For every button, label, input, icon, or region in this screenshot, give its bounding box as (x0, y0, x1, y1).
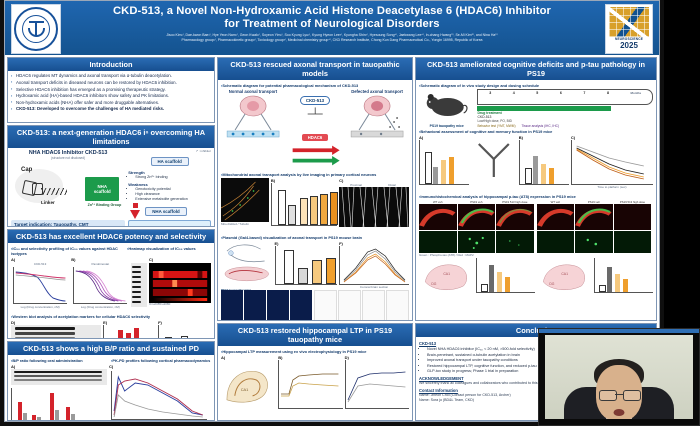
hippocampal-slice-diagram: CA1 (221, 360, 276, 410)
timeline-tick: 6 (560, 91, 562, 95)
screen-root: CKD-513, a Novel Non-Hydroxamic Acid His… (0, 0, 700, 426)
cognitive-sub-1: Schematic diagram of in vivo study desig… (419, 83, 653, 88)
ihc-zoom-image (614, 231, 652, 253)
card-bp-ratio: CKD-513 shows a high B/P ratio and susta… (7, 341, 215, 421)
y-maze-icon (471, 135, 517, 181)
molecule-note: (structure not disclosed) (11, 156, 125, 160)
ihc-zoom-image (496, 231, 534, 253)
neuroscience-logo: NEUROSCIENCE 2025 (605, 4, 653, 54)
panel-label-bp-c: C) (109, 364, 209, 369)
axonal-sub-1: Schematic diagram for potential pharmaco… (221, 83, 409, 88)
ihc-zoom-image (458, 231, 496, 253)
timeline-unit: Months (630, 91, 641, 95)
mechanism-arrows (287, 144, 343, 166)
list-item: HDAC6 regulates MT dynamics and axonal t… (11, 73, 211, 80)
image-caption: Mito-DsRed / Tubulin (221, 222, 269, 226)
dose-response-curve-a (14, 267, 67, 303)
zn-binding-label: Zn²⁺ Binding Group (88, 203, 122, 207)
ihc-note: Green : Phospho-tau (AT8) / Red : MAP2 (419, 253, 653, 257)
inhibitor-footnote: iⁿ : inhibitor (196, 149, 211, 153)
timeline-tick: 7 (583, 91, 585, 95)
axis-x-label-b: Log (Drug concentration, nM) (71, 305, 129, 309)
introduction-title: Introduction (8, 58, 214, 71)
neuroscience-year: 2025 (606, 41, 652, 50)
ihc-image (537, 204, 575, 230)
list-item: CKD-513: Developed to overcome the chall… (11, 106, 211, 113)
potency-sub-3: Western blot analysis of acetylation mar… (11, 314, 211, 319)
card-potency: CKD-513 has excellent HDAC6 potency and … (7, 229, 215, 339)
card-ltp: CKD-513 restored hippocampal LTP in PS19… (217, 323, 413, 421)
timeline-tick: 4 (513, 91, 515, 95)
panel-label-c: C) (149, 257, 211, 262)
card-introduction: Introduction HDAC6 regulates MT dynamics… (7, 57, 215, 123)
presenter-video-tile[interactable] (538, 328, 700, 426)
normal-neuron-diagram (223, 94, 283, 140)
fig-label-pano: Panobinostat (71, 262, 129, 266)
legend-behavior: Behavior test (YMT, MWM) (477, 124, 515, 128)
defective-neuron-diagram (347, 94, 407, 140)
western-blot-image (11, 325, 101, 338)
ihc-zoom-image (419, 231, 457, 253)
brain-region-diagram: CA1 DG (537, 258, 592, 294)
column-left: Introduction HDAC6 regulates MT dynamics… (7, 57, 215, 421)
title-line-2: for Treatment of Neurological Disorders (63, 18, 601, 31)
svg-text:CA1: CA1 (561, 272, 568, 276)
affiliations: Pharmacology group¹⁾, Pharmacokinetic gr… (63, 38, 601, 43)
ltp-summary-chart (345, 360, 409, 409)
axonal-sub-3: Plasmid (Gal4-based) visualization of ax… (221, 235, 409, 240)
legend-strip (131, 263, 147, 307)
ha-weakness-list: Genotoxicity potential High clearance Ex… (128, 187, 211, 203)
list-item: Strong Zn²⁺ binding (135, 175, 211, 180)
ltp-trace-chart (278, 360, 342, 409)
ps19-model-label: PS19 tauopathy mice (419, 124, 474, 128)
title-line-1: CKD-513, a Novel Non-Hydroxamic Acid His… (63, 5, 601, 18)
gfp-intensity-bar-chart (275, 246, 338, 285)
ckd-emblem-icon (14, 7, 58, 51)
next-generation-title: CKD-513: a next-generation HDAC6 iⁿ over… (8, 126, 214, 148)
dose-response-curve-b (74, 267, 127, 303)
heatmap-note: IC\u2085\u2080 (149, 303, 211, 306)
gfp-distribution-line-chart (339, 246, 409, 285)
axis-x-label-a: Log (Drug concentration, nM) (11, 305, 69, 309)
axonal-title: CKD-513 rescued axonal transport in tauo… (218, 58, 412, 80)
glasses-left-icon (599, 390, 617, 401)
linker-label: Linker (41, 200, 55, 205)
ihc-image (458, 204, 496, 230)
list-item: Extensive metabolite generation (135, 197, 211, 202)
kymograph-image (339, 187, 409, 227)
escape-latency-chart (571, 140, 653, 185)
list-item: Selective HDAC6 inhibition has emerged a… (11, 87, 211, 94)
brain-injection-diagram (221, 241, 273, 283)
list-item: Non-hydroxamic acids (NHA) offer safer a… (11, 100, 211, 107)
cognitive-sub-3: Immunohistochemical analysis of hippocam… (419, 194, 653, 199)
mouse-icon (419, 89, 474, 119)
list-item: Axonal transport deficits in diseased ne… (11, 80, 211, 87)
nha-scaffold-block: NHAscaffold (85, 177, 119, 201)
target-indication: Target indication: Tauopathy, CMT (11, 220, 125, 226)
bp-sub-2: PK-PD profiles following cortical pharma… (111, 358, 211, 363)
introduction-bullets: HDAC6 regulates MT dynamics and axonal t… (11, 73, 211, 113)
svg-text:CA1: CA1 (241, 387, 249, 392)
svg-text:CA1: CA1 (443, 272, 450, 276)
ymaze-bar-chart (419, 140, 469, 185)
ihc-image (575, 204, 613, 230)
ha-strength-list: Strong Zn²⁺ binding (128, 175, 211, 180)
ihc-zoom-image (575, 231, 613, 253)
latency-y-label: Time to platform (sec) (571, 185, 653, 189)
card-axonal-transport: CKD-513 rescued axonal transport in tauo… (217, 57, 413, 321)
list-item: Hydroxamic acid (HA)-based HDAC6 inhibit… (11, 93, 211, 100)
hdac6-node: HDAC6 (302, 134, 328, 141)
axonal-sub-2: Mitochondrial axonal transport analysis … (221, 172, 409, 177)
molecule-panel: NHA HDAC6 Inhibitor CKD-513 (structure n… (11, 150, 125, 224)
fig-label-ckd513: CKD-513 (11, 262, 69, 266)
chart-x-label: Coronal brain section (339, 285, 409, 289)
ihc-image (496, 204, 534, 230)
ic50-heatmap (149, 263, 211, 303)
potency-sub-2: Heatmap visualization of IC₅₀ values (127, 246, 211, 256)
scaffold-comparison: HA scaffold Strength Strong Zn²⁺ binding… (128, 150, 211, 224)
bar-chart-achistone (158, 325, 211, 338)
legend-tissue: Tissue analysis (IHC, IHC) (522, 124, 559, 128)
structure-diagram: Cap NHAscaffold Linker Zn²⁺ Binding Grou… (11, 161, 125, 217)
mwm-bar-chart (519, 140, 569, 185)
author-block: Jisoo Kim¹⁾, Dae-kwon Bae¹⁾, Hye Yeon Na… (63, 33, 601, 43)
timeline-tick: 5 (536, 91, 538, 95)
ltp-sub-1: Hippocampal LTP measurement using ex viv… (221, 349, 409, 354)
potency-sub-1: IC₅₀ and selectivity profiling of IC₅₀ v… (11, 246, 123, 256)
poster-header: CKD-513, a Novel Non-Hydroxamic Acid His… (5, 1, 659, 55)
ltp-title: CKD-513 restored hippocampal LTP in PS19… (218, 324, 412, 346)
bp-sub-1: B/P ratio following oral administration (11, 358, 107, 363)
glasses-bridge-icon (615, 394, 623, 395)
drug-node: CKD-513 (300, 96, 330, 105)
video-top-bar (539, 329, 699, 333)
neuroscience-mark-icon (609, 7, 649, 37)
svg-text:DG: DG (431, 282, 436, 286)
nha-strength-box: Strength High isoform selectivity No gen… (128, 220, 211, 226)
bp-title: CKD-513 shows a high B/P ratio and susta… (8, 342, 214, 355)
brain-region-diagram: CA1 DG (419, 258, 474, 294)
ihc-image (419, 204, 457, 230)
cognitive-title: CKD-513 ameliorated cognitive deficits a… (416, 58, 656, 80)
bp-blot-image (11, 369, 107, 385)
mito-transport-bar-chart (271, 183, 337, 226)
video-feed (545, 335, 693, 419)
at8-intensity-chart-1 (476, 258, 535, 293)
page-title: CKD-513, a Novel Non-Hydroxamic Acid His… (63, 5, 601, 31)
ihc-zoom-image (537, 231, 575, 253)
card-next-generation: CKD-513: a next-generation HDAC6 iⁿ over… (7, 125, 215, 227)
ihc-image (614, 204, 652, 230)
at8-intensity-chart-2 (594, 258, 653, 293)
nha-scaffold-pill: NHA scaffold (145, 207, 186, 216)
card-cognitive: CKD-513 ameliorated cognitive deficits a… (415, 57, 657, 321)
nha-strength-label: Strength (132, 225, 207, 226)
neuron-fluorescence-image (221, 178, 269, 222)
column-middle: CKD-513 rescued axonal transport in tauo… (217, 57, 413, 421)
cognitive-sub-2: Behavioral assessment of cognitive and m… (419, 129, 653, 134)
potency-title: CKD-513 has excellent HDAC6 potency and … (8, 230, 214, 243)
bar-chart-acetub (103, 325, 156, 338)
cap-label: Cap (21, 167, 32, 173)
ha-scaffold-pill: HA scaffold (151, 157, 189, 166)
pkpd-line-chart (111, 371, 207, 420)
inhibition-connector (287, 107, 343, 121)
ckd-logo (11, 4, 61, 54)
svg-text:DG: DG (549, 282, 554, 286)
dose-label: Low/High dose, PO, BID (477, 119, 653, 123)
timeline-tick: 8 (607, 91, 609, 95)
glasses-right-icon (623, 390, 641, 401)
bp-bar-chart (11, 388, 107, 420)
presenter-mouth (614, 409, 625, 416)
right-black-strip (664, 0, 700, 330)
timeline-tick: 3 (489, 91, 491, 95)
